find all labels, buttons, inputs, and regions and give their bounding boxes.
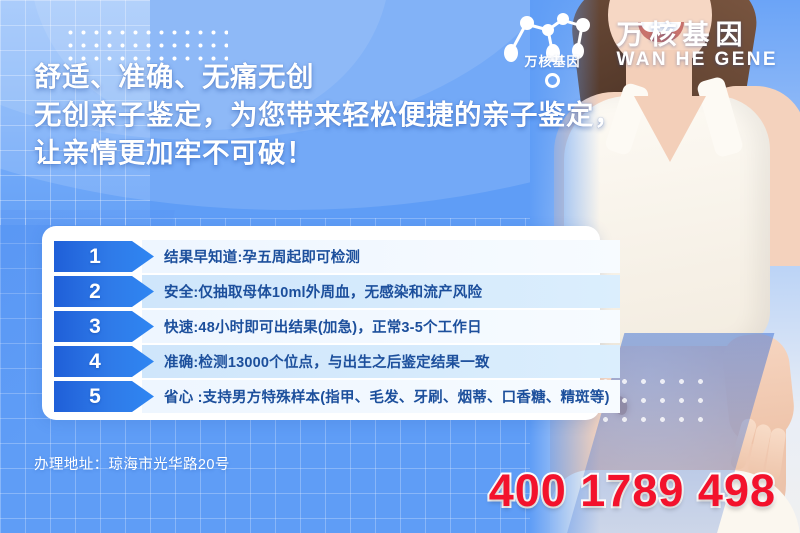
feature-row: 2 安全:仅抽取母体10ml外周血，无感染和流产风险: [54, 275, 620, 308]
logo-caption: 万核基因: [496, 51, 608, 70]
feature-number-badge: 2: [54, 276, 154, 307]
feature-number-badge: 1: [54, 241, 154, 272]
feature-row: 3 快速:48小时即可出结果(加急)，正常3-5个工作日: [54, 310, 620, 343]
brand-logo[interactable]: 万核基因 万核基因 WAN HE GENE: [496, 8, 778, 84]
feature-text: 省心 :支持男方特殊样本(指甲、毛发、牙刷、烟蒂、口香糖、精斑等): [164, 386, 610, 407]
features-list: 1 结果早知道:孕五周起即可检测 2 安全:仅抽取母体10ml外周血，无感染和流…: [54, 240, 620, 415]
feature-number: 4: [89, 351, 101, 372]
hotline-phone-number[interactable]: 400 1789 498: [489, 465, 776, 517]
brand-name-cn: 万核基因: [616, 21, 778, 49]
headline-line-3: 让亲情更加牢不可破！: [34, 134, 622, 172]
office-address: 办理地址：琼海市光华路20号: [34, 453, 230, 474]
feature-number: 1: [89, 246, 101, 267]
brand-name-en: WAN HE GENE: [616, 50, 778, 71]
feature-number-badge: 5: [54, 381, 154, 412]
feature-number-badge: 4: [54, 346, 154, 377]
feature-text: 结果早知道:孕五周起即可检测: [164, 246, 360, 267]
feature-text: 准确:检测13000个位点，与出生之后鉴定结果一致: [164, 351, 490, 372]
feature-text: 安全:仅抽取母体10ml外周血，无感染和流产风险: [164, 281, 482, 302]
feature-number: 5: [89, 386, 101, 407]
feature-row: 4 准确:检测13000个位点，与出生之后鉴定结果一致: [54, 345, 620, 378]
feature-row: 1 结果早知道:孕五周起即可检测: [54, 240, 620, 273]
promo-banner: 万核基因 万核基因 WAN HE GENE 舒适、准确、无痛无创 无创亲子鉴定，…: [0, 0, 800, 533]
feature-number-badge: 3: [54, 311, 154, 342]
feature-text: 快速:48小时即可出结果(加急)，正常3-5个工作日: [164, 316, 482, 337]
decorative-dots-top-left: [64, 26, 228, 62]
feature-number: 3: [89, 316, 101, 337]
feature-number: 2: [89, 281, 101, 302]
features-card: 1 结果早知道:孕五周起即可检测 2 安全:仅抽取母体10ml外周血，无感染和流…: [42, 226, 600, 420]
headline-line-2: 无创亲子鉴定，为您带来轻松便捷的亲子鉴定，: [34, 96, 622, 134]
molecule-dna-icon: 万核基因: [496, 8, 608, 84]
feature-row: 5 省心 :支持男方特殊样本(指甲、毛发、牙刷、烟蒂、口香糖、精斑等): [54, 380, 620, 413]
